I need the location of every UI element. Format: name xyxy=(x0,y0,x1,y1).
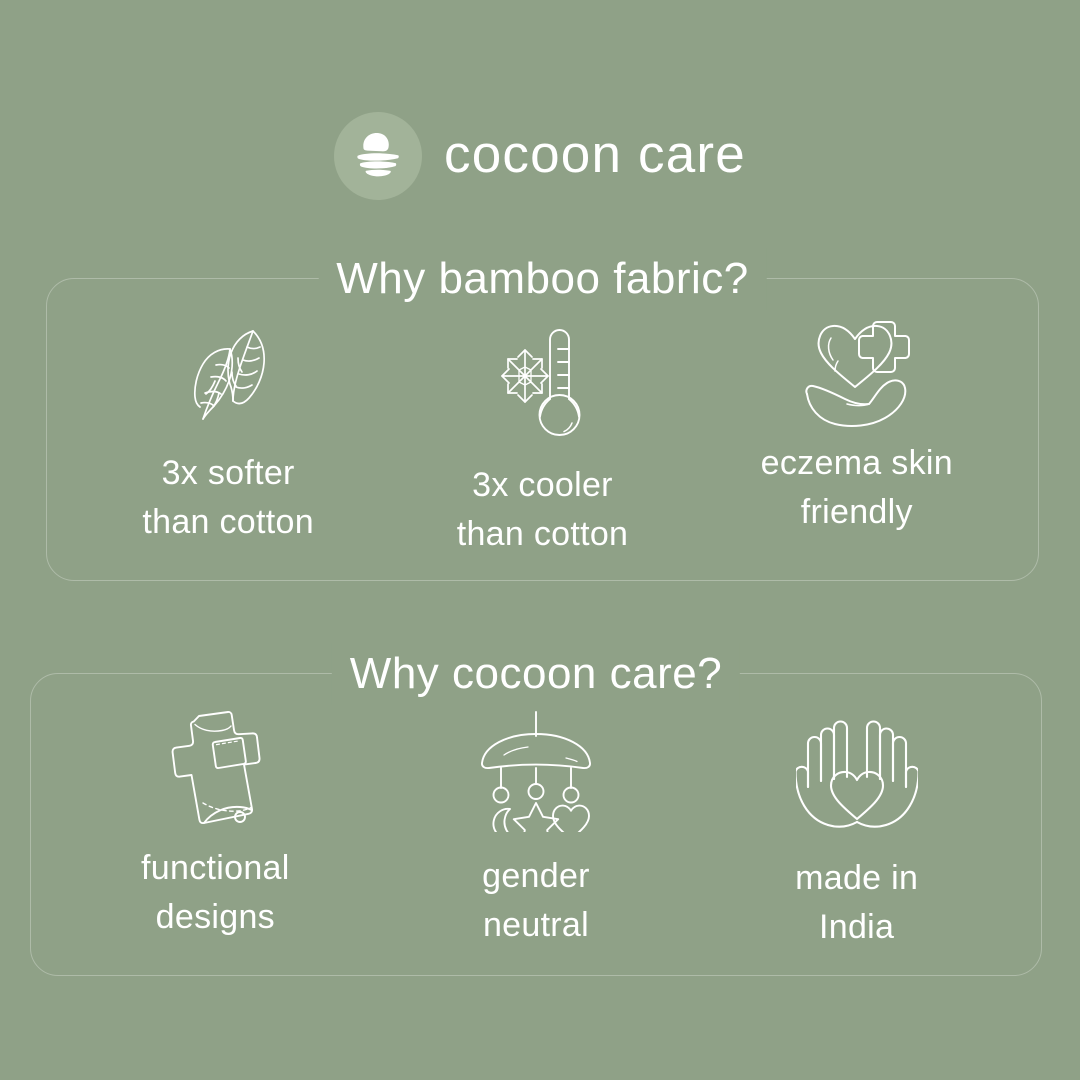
thermometer-snowflake-icon xyxy=(488,321,596,443)
feature-label: eczema skin friendly xyxy=(761,439,953,538)
heart-in-hand-medical-icon xyxy=(795,311,919,433)
section-bamboo-fabric: Why bamboo fabric? xyxy=(46,278,1039,581)
feature-list-bamboo: 3x softer than cotton xyxy=(47,279,1038,580)
feature-label: functional designs xyxy=(141,844,290,943)
brand-header: cocoon care xyxy=(0,110,1080,202)
baby-mobile-icon xyxy=(474,710,598,832)
feature-label: gender neutral xyxy=(482,852,590,951)
feature-eczema-skin-friendly: eczema skin friendly xyxy=(707,313,1007,538)
feature-3x-cooler: 3x cooler than cotton xyxy=(392,313,692,560)
cocoon-sun-logo-icon xyxy=(334,112,422,200)
feature-3x-softer: 3x softer than cotton xyxy=(78,313,378,548)
section-why-cocoon-care: Why cocoon care? xyxy=(30,673,1042,976)
baby-onesie-icon xyxy=(160,708,270,830)
hands-heart-icon xyxy=(796,712,918,834)
feature-list-cocoon: functional designs xyxy=(31,674,1041,975)
feature-made-in-india: made in India xyxy=(707,708,1007,953)
feature-label: 3x softer than cotton xyxy=(142,449,314,548)
feathers-icon xyxy=(169,313,287,435)
infographic-page: cocoon care Why bamboo fabric? xyxy=(0,0,1080,1080)
brand-name: cocoon care xyxy=(444,128,746,185)
feature-label: made in India xyxy=(795,854,918,953)
feature-gender-neutral: gender neutral xyxy=(386,708,686,951)
feature-label: 3x cooler than cotton xyxy=(457,461,629,560)
feature-functional-designs: functional designs xyxy=(65,708,365,943)
